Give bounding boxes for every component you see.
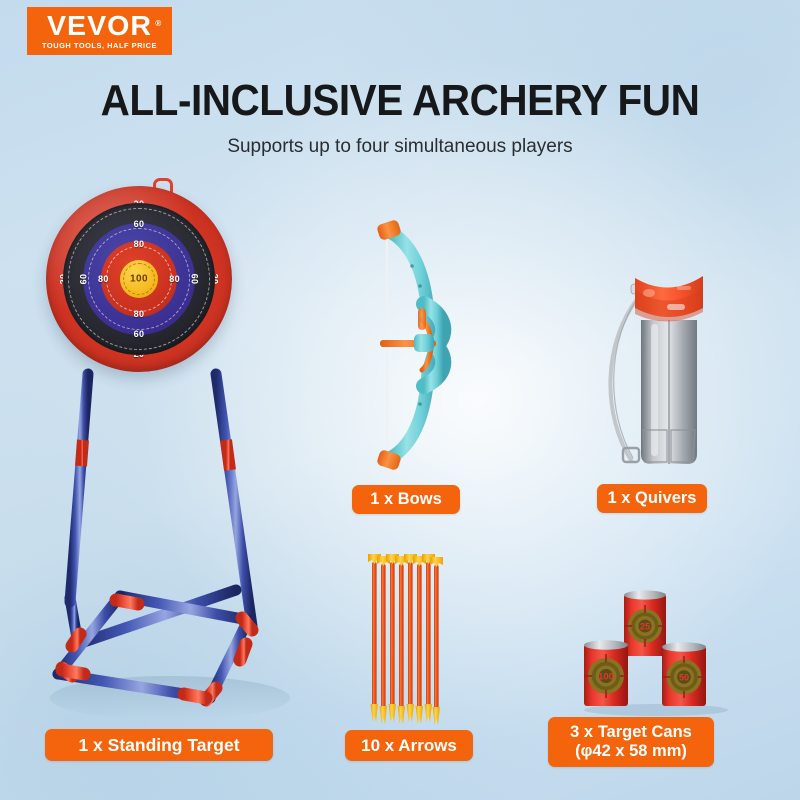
score-label-80-top: 80 bbox=[134, 239, 145, 249]
score-label-80-right: 80 bbox=[169, 274, 180, 284]
can-score-50: 50 bbox=[679, 673, 689, 683]
logo-tagline: TOUGH TOOLS, HALF PRICE bbox=[42, 41, 157, 50]
bow-product bbox=[360, 212, 490, 477]
page-subheadline: Supports up to four simultaneous players bbox=[0, 136, 800, 158]
bow-illustration bbox=[360, 212, 490, 477]
label-target-cans-line2: (φ42 x 58 mm) bbox=[575, 742, 687, 761]
quiver-illustration bbox=[615, 268, 755, 478]
target-cans-product: 25 100 bbox=[570, 592, 740, 714]
score-label-100-bullseye: 100 bbox=[130, 274, 148, 285]
label-standing-target: 1 x Standing Target bbox=[45, 729, 273, 761]
can-score-25: 25 bbox=[640, 622, 650, 632]
score-label-60-left: 60 bbox=[78, 274, 88, 285]
score-label-80-left: 80 bbox=[98, 274, 109, 284]
page-headline: ALL-INCLUSIVE ARCHERY FUN bbox=[32, 76, 768, 126]
arrows-product bbox=[362, 548, 454, 726]
label-target-cans-line1: 3 x Target Cans bbox=[570, 723, 692, 742]
score-label-80-bottom: 80 bbox=[134, 309, 145, 319]
target-face: 20 20 20 20 60 60 60 60 80 80 80 80 bbox=[46, 186, 232, 372]
target-cans-illustration: 25 100 bbox=[570, 592, 740, 714]
can-bottom-right: 50 bbox=[662, 642, 706, 706]
registered-trademark-icon: ® bbox=[155, 11, 162, 37]
logo-wordmark: VEVOR® bbox=[47, 13, 152, 39]
vevor-logo: VEVOR® TOUGH TOOLS, HALF PRICE bbox=[27, 7, 172, 55]
arrows-illustration bbox=[362, 548, 454, 726]
standing-target-product: 20 20 20 20 60 60 60 60 80 80 80 80 bbox=[20, 178, 300, 738]
can-score-100: 100 bbox=[598, 672, 614, 683]
can-bottom-left: 100 bbox=[584, 640, 628, 706]
score-label-60-bottom: 60 bbox=[134, 329, 145, 339]
label-target-cans: 3 x Target Cans (φ42 x 58 mm) bbox=[548, 717, 714, 767]
label-bows: 1 x Bows bbox=[352, 485, 460, 514]
logo-wordmark-text: VEVOR bbox=[47, 10, 152, 41]
product-infographic: VEVOR® TOUGH TOOLS, HALF PRICE ALL-INCLU… bbox=[0, 0, 800, 800]
label-quivers: 1 x Quivers bbox=[597, 484, 707, 513]
quiver-product bbox=[615, 268, 755, 478]
can-top: 25 bbox=[624, 590, 666, 656]
label-arrows: 10 x Arrows bbox=[345, 730, 473, 761]
score-label-60-top: 60 bbox=[134, 219, 145, 229]
score-label-60-right: 60 bbox=[190, 274, 200, 285]
